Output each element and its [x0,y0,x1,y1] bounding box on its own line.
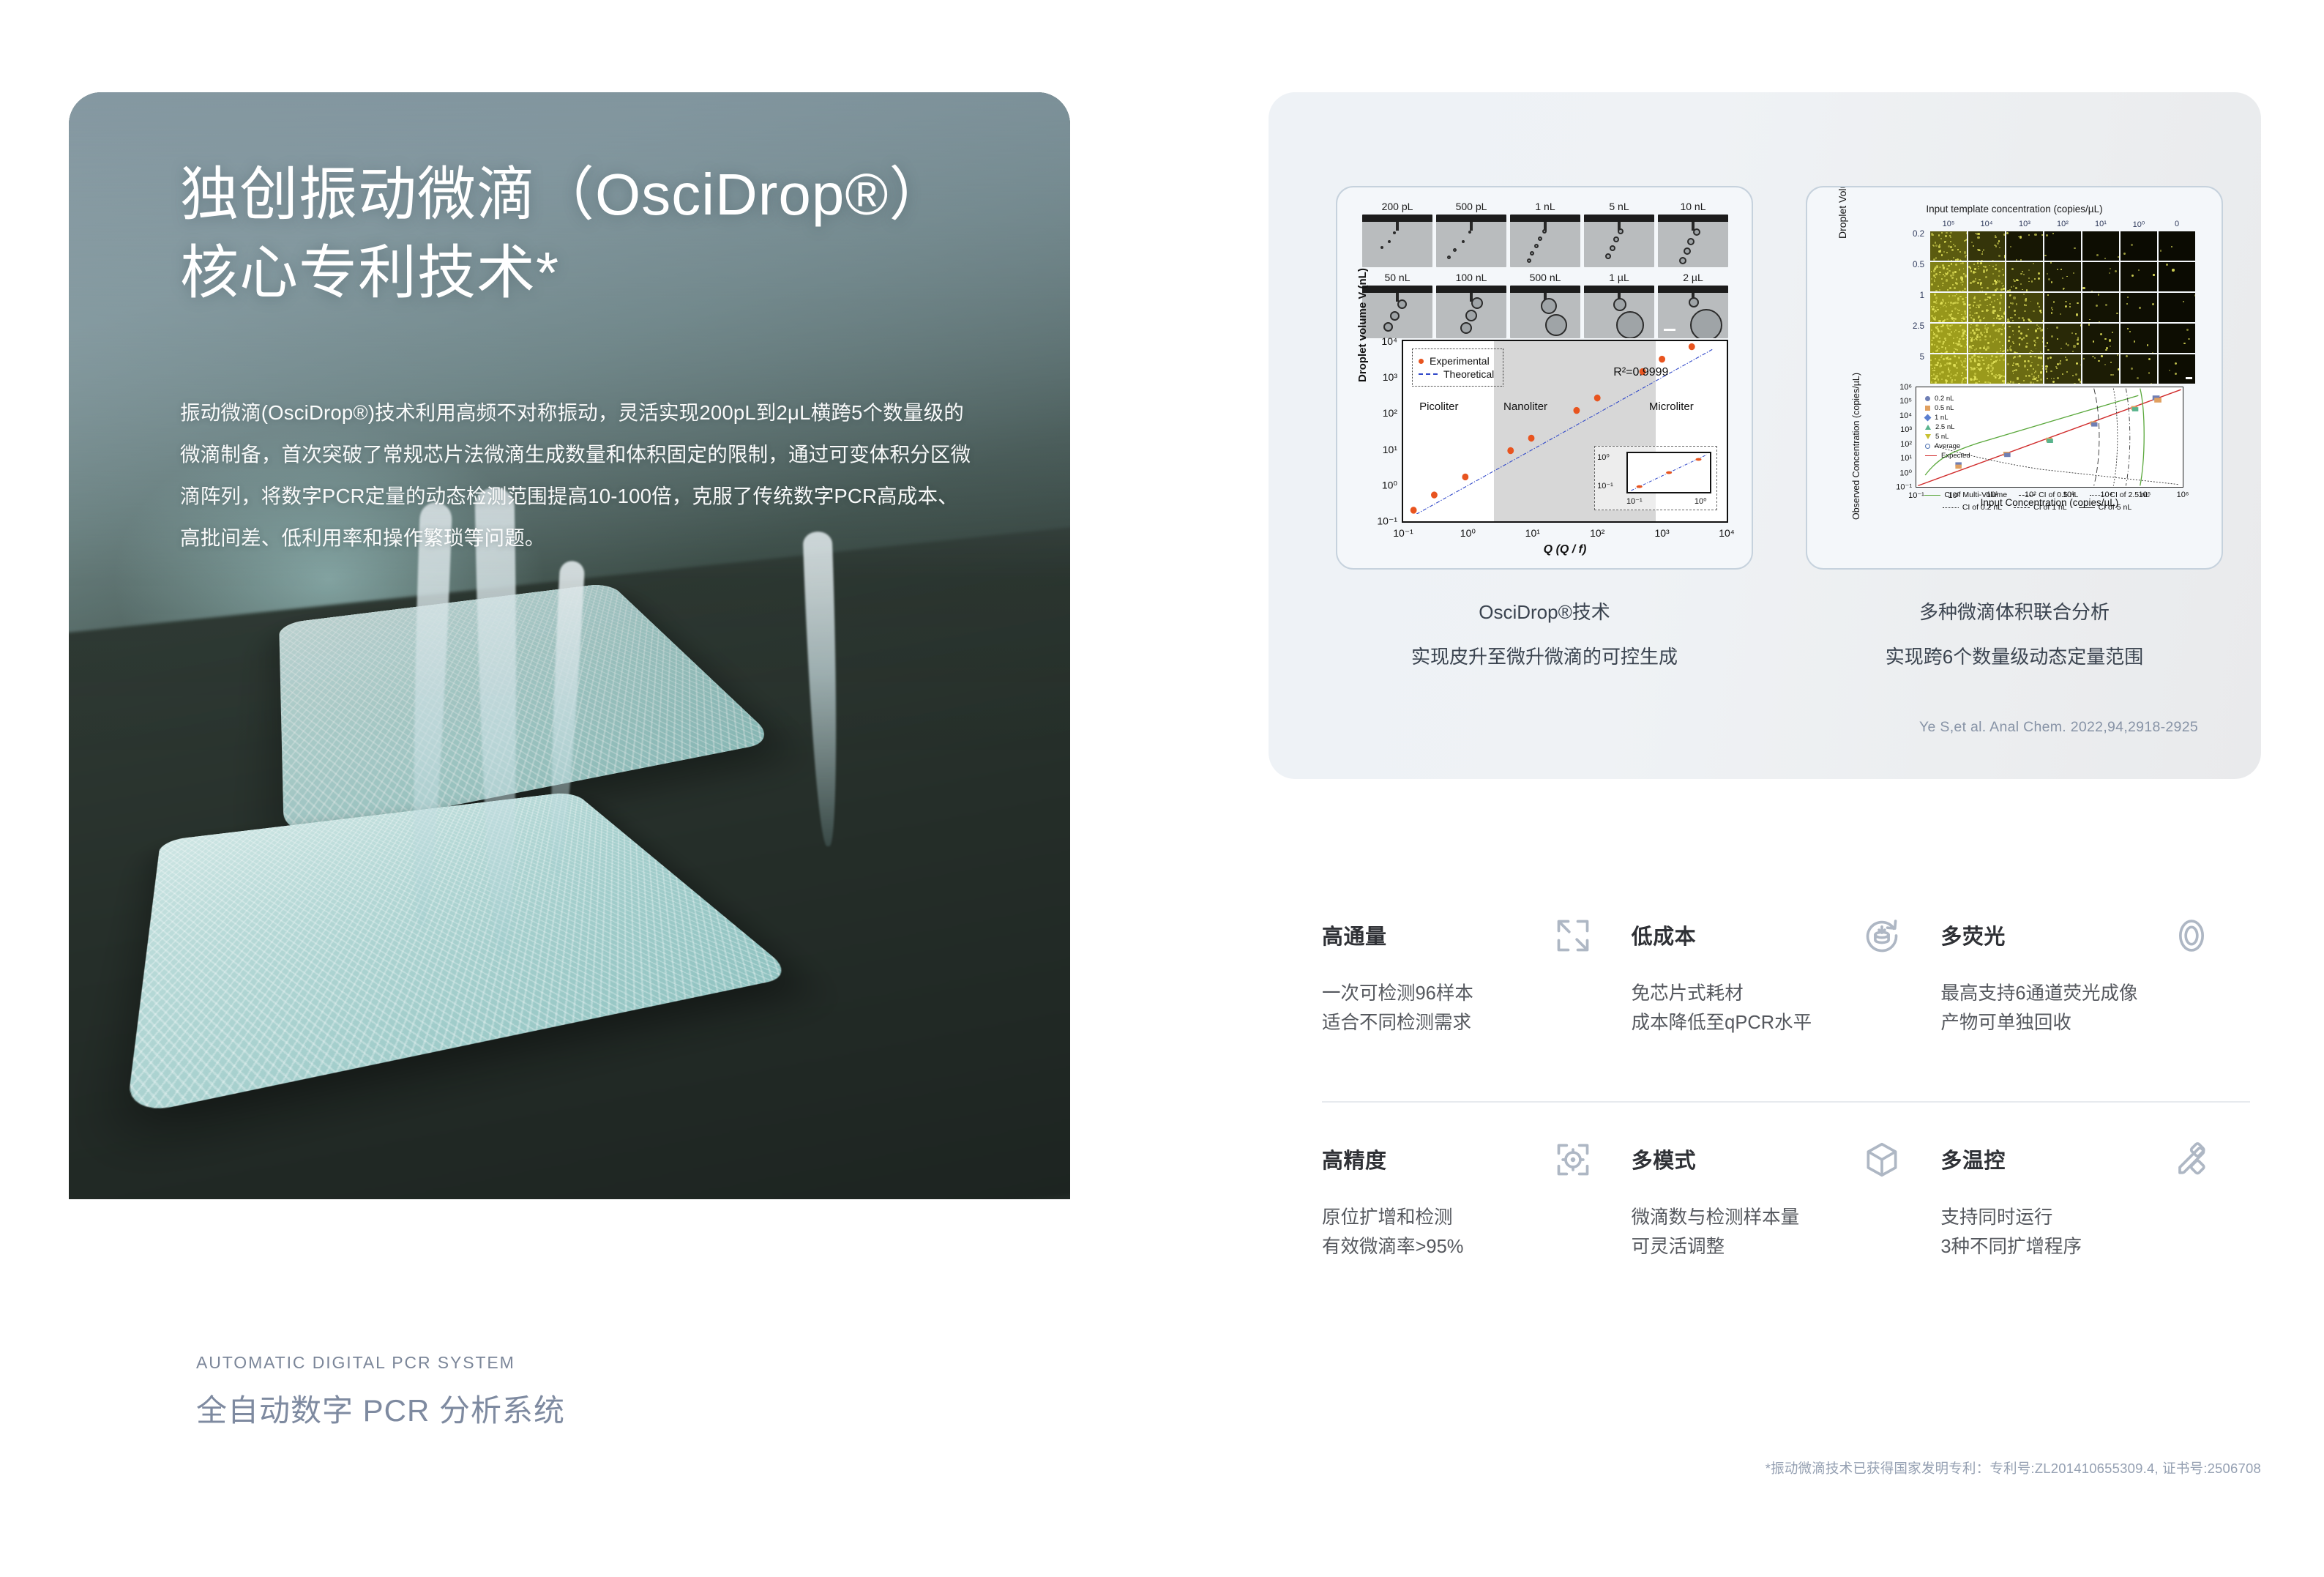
feature-title: 多温控 [1940,1144,2006,1174]
figure-caption-title: 多种微滴体积联合分析 [1806,597,2223,625]
brand-lockup: AUTOMATIC DIGITAL PCR SYSTEM 全自动数字 PCR 分… [196,1353,565,1431]
droplet-cell: 10 nL [1658,201,1728,267]
legend-item: Theoretical [1419,368,1494,380]
ci-line-swatch [2019,495,2035,496]
legend-marker [1925,444,1930,449]
cal-y-tick: 10⁵ [1899,397,1912,406]
heatmap-cell [1930,262,1967,291]
droplet-micrograph [1510,215,1580,267]
feature-title: 多模式 [1632,1144,1697,1174]
heatmap-cell [2121,262,2157,291]
heatmap-cell [2044,354,2081,384]
legend-label: 1 nL [1935,414,1949,422]
zone-label-microliter: Microliter [1649,400,1694,413]
zone-label-nanoliter: Nanoliter [1503,400,1547,413]
inset-fit-line [1628,453,1710,492]
ci-label: CI of 5 nL [2099,503,2132,512]
product-name-cn: 全自动数字 PCR 分析系统 [196,1386,565,1431]
ci-label: CI of 1 nL [2033,503,2067,512]
calibration-chart: Observed Concentration (copies/µL) 10⁻¹ … [1847,384,2210,521]
ci-line-swatch [1924,495,1940,496]
focus-target-icon [1554,1141,1592,1179]
heatmap-cell [2082,324,2119,353]
legend-label: 0.2 nL [1935,395,1954,403]
droplet-cell: 200 pL [1362,201,1432,267]
droplet-micrograph-strip: 200 pL 500 pL [1362,201,1730,338]
legend-item: 2.5 nL [1925,423,1970,431]
heatmap-cell [1930,293,1967,322]
heatmap-cell [2121,293,2157,322]
feature-description: 免芯片式耗材 成本降低至qPCR水平 [1632,980,1902,1037]
chart-inset: 10⁻¹ 10⁰ 10⁻¹ 10⁰ [1594,446,1717,511]
heatmap-title: Input template concentration (copies/µL) [1807,204,2222,215]
ci-legend-item: CI of 0.2 nL [1943,503,2002,512]
y-axis-label: Droplet volume V (nL) [1356,268,1369,382]
heatmap-cell [2159,293,2195,322]
ci-legend-item: CI of Multi-Volume [1924,491,2007,499]
cal-y-tick: 10⁰ [1899,468,1912,477]
y-tick: 10⁰ [1382,479,1397,491]
calibration-y-axis-label: Observed Concentration (copies/µL) [1851,373,1861,520]
droplet-row-bottom: 50 nL 100 nL 500 nL [1362,272,1730,338]
heatmap-cell [2159,231,2195,261]
droplet-volume-label: 1 nL [1510,201,1580,212]
heatmap-x-tick: 10¹ [2082,220,2119,229]
hero-title: 独创振动微滴（OsciDrop®） 核心专利技术* [180,155,978,312]
legend-label: 2.5 nL [1935,423,1954,431]
heatmap-x-tick: 10⁰ [2121,220,2157,229]
legend-marker [1925,396,1930,401]
heatmap-x-tick: 10³ [2006,220,2043,229]
inset-y-tick: 10⁰ [1597,452,1610,462]
droplet-volume-label: 200 pL [1362,201,1432,212]
legend-marker [1925,406,1930,411]
droplet-cell: 100 nL [1436,272,1506,338]
feature-description: 微滴数与检测样本量 可灵活调整 [1632,1204,1902,1261]
legend-marker-dot [1419,359,1424,364]
heatmap-cell [2082,293,2119,322]
heatmap-y-ticks: 0.2 0.5 1 2.5 5 [1877,220,1924,373]
droplet-volume-label: 1 µL [1584,272,1654,283]
heatmap-cell [1930,231,1967,261]
legend-marker-dash [1419,373,1438,375]
legend-item: Average [1925,442,1970,450]
feature-title: 多荧光 [1940,920,2006,950]
legend-marker [1925,455,1937,456]
feature-header: 多温控 [1940,1144,2211,1179]
droplet-volume-label: 2 µL [1658,272,1728,283]
feature-item-high-throughput: 高通量 一次可检测96样本 适合不同检测需求 [1322,920,1632,1103]
droplet-micrograph [1436,215,1506,267]
heatmap-cell [1968,231,2005,261]
y-tick: 10³ [1383,371,1397,383]
droplet-volume-label: 500 nL [1510,272,1580,283]
figure-caption-sub: 实现跨6个数量级动态定量范围 [1806,642,2223,669]
y-tick: 10¹ [1383,444,1397,455]
droplet-volume-label: 50 nL [1362,272,1432,283]
chart-legend: Experimental Theoretical [1412,348,1503,387]
feature-header: 高精度 [1322,1144,1592,1179]
droplet-volume-label: 10 nL [1658,201,1728,212]
heatmap-cell [2044,293,2081,322]
r-squared-annotation: R²=0.9999 [1613,366,1668,379]
cal-y-tick: 10² [1900,440,1912,449]
crossed-diamond-icon [2172,1141,2211,1179]
legend-marker [1924,414,1932,422]
legend-label: 0.5 nL [1935,404,1954,412]
figure-citation: Ye S,et al. Anal Chem. 2022,94,2918-2925 [1919,719,2198,736]
product-name-card: AUTOMATIC DIGITAL PCR SYSTEM 全自动数字 PCR 分… [141,1207,1187,1521]
feature-description: 原位扩增和检测 有效微滴率>95% [1322,1204,1592,1261]
heatmap-x-tick: 10⁵ [1930,220,1967,229]
droplet-volume-chart: Droplet volume V (nL) 10⁻¹ 10⁰ 10¹ 10² 1… [1359,331,1734,558]
legend-marker [1925,425,1931,430]
droplet-row-top: 200 pL 500 pL [1362,201,1730,267]
heatmap-y-tick: 1 [1877,281,1924,312]
feature-header: 多荧光 [1940,920,2211,955]
cal-y-tick: 10⁴ [1899,411,1912,420]
heatmap-cell [2121,324,2157,353]
cal-y-tick: 10³ [1900,425,1912,434]
heatmap-x-tick: 10² [2044,220,2081,229]
heatmap-cell [1930,354,1967,384]
confidence-interval-legend: CI of Multi-Volume CI of 0.5 nL CI of 2.… [1872,491,2202,515]
ci-legend-item: CI of 2.5 nL [2090,491,2149,499]
inset-y-tick: 10⁻¹ [1597,481,1613,491]
droplet-cell: 1 µL [1584,272,1654,338]
feature-title: 低成本 [1632,920,1697,950]
heatmap-cell [1968,293,2005,322]
feature-title: 高精度 [1322,1144,1387,1174]
ci-line-swatch [2014,507,2030,508]
droplet-cell: 2 µL [1658,272,1728,338]
hero-copy-block: 独创振动微滴（OsciDrop®） 核心专利技术* 振动微滴(OsciDrop®… [180,155,978,559]
droplet-micrograph [1584,215,1654,267]
x-tick: 10⁰ [1460,527,1476,540]
legend-label: Expected [1941,452,1970,460]
droplet-cell: 5 nL [1584,201,1654,267]
droplet-cell: 50 nL [1362,272,1432,338]
heatmap-cell [2044,231,2081,261]
figure-caption-2: 多种微滴体积联合分析 实现跨6个数量级动态定量范围 [1806,597,2223,669]
ci-label: CI of Multi-Volume [1944,491,2007,499]
calibration-plot-area: 10⁻¹ 10⁰ 10¹ 10² 10³ 10⁴ 10⁵ 10⁶ 10⁻¹ 10… [1916,387,2183,488]
legend-item: 1 nL [1925,414,1970,422]
figure-caption-title: OsciDrop®技术 [1336,597,1753,625]
ci-label: CI of 2.5 nL [2110,491,2149,499]
droplet-cell: 500 pL [1436,201,1506,267]
legend-label: Experimental [1430,355,1490,367]
legend-label: Theoretical [1443,368,1494,380]
droplet-cell: 1 nL [1510,201,1580,267]
heatmap-cell [2121,354,2157,384]
feature-title: 高通量 [1322,920,1387,950]
recycle-icon [1863,917,1901,955]
y-tick: 10⁻¹ [1377,515,1397,528]
zone-label-picoliter: Picoliter [1419,400,1458,413]
feature-header: 高通量 [1322,920,1592,955]
y-tick: 10² [1383,407,1397,419]
figure-card-osci-drop: 200 pL 500 pL [1336,186,1753,570]
x-axis-label: Q (Q / f) [1402,543,1728,556]
ci-legend-item: CI of 5 nL [2079,503,2132,512]
droplet-cell: 500 nL [1510,272,1580,338]
ci-legend-row: CI of 0.2 nL CI of 1 nL CI of 5 nL [1872,503,2202,512]
droplet-volume-label: 100 nL [1436,272,1506,283]
heatmap-x-tick: 10⁴ [1968,220,2005,229]
ci-line-swatch [2090,495,2106,496]
scale-bar [2186,377,2192,379]
ci-legend-row: CI of Multi-Volume CI of 0.5 nL CI of 2.… [1872,491,2202,499]
feature-item-low-cost: 低成本 免芯片式耗材 成本降低至qPCR水平 [1632,920,1941,1103]
x-tick: 10⁻¹ [1393,527,1413,540]
ci-legend-item: CI of 1 nL [2014,503,2067,512]
heatmap-x-tick: 0 [2159,220,2195,229]
droplet-volume-label: 500 pL [1436,201,1506,212]
figure-caption-1: OsciDrop®技术 实现皮升至微升微滴的可控生成 [1336,597,1753,669]
ci-label: CI of 0.5 nL [2039,491,2078,499]
ci-label: CI of 0.2 nL [1962,503,2002,512]
x-tick: 10³ [1654,527,1669,539]
heatmap-y-tick: 0.2 [1877,220,1924,250]
expand-icon [1554,917,1592,955]
heatmap-cell [2159,262,2195,291]
legend-label: 5 nL [1935,433,1949,441]
droplet-micrograph [1658,215,1728,267]
hero-description: 振动微滴(OsciDrop®)技术利用高频不对称振动，灵活实现200pL到2μL… [180,392,978,559]
heatmap-y-tick: 2.5 [1877,312,1924,343]
calibration-legend: 0.2 nL 0.5 nL 1 nL 2.5 nL 5 nL Average E… [1925,395,1970,461]
fluorescence-heatmap: 10⁵ 10⁴ 10³ 10² 10¹ 10⁰ 0 [1930,220,2195,384]
legend-label: Average [1935,442,1960,450]
feature-header: 多模式 [1632,1144,1902,1179]
heatmap-cell [2044,324,2081,353]
figure-panel: 200 pL 500 pL [1269,92,2261,779]
heatmap-cell [2159,354,2195,384]
feature-item-multi-temperature: 多温控 支持同时运行 3种不同扩增程序 [1940,1103,2250,1286]
x-tick: 10¹ [1525,527,1540,539]
figure-caption-sub: 实现皮升至微升微滴的可控生成 [1336,642,1753,669]
heatmap-y-tick: 5 [1877,343,1924,373]
inset-x-tick: 10⁰ [1695,496,1707,506]
inset-x-tick: 10⁻¹ [1626,496,1643,506]
feature-description: 一次可检测96样本 适合不同检测需求 [1322,980,1592,1037]
concentric-icon [2172,917,2211,955]
heatmap-cell [2082,231,2119,261]
droplet-volume-label: 5 nL [1584,201,1654,212]
figure-card-multivolume: Input template concentration (copies/µL)… [1806,186,2223,570]
heatmap-cell [2159,324,2195,353]
legend-marker [1925,434,1931,439]
y-tick: 10⁴ [1381,335,1397,347]
feature-item-multi-mode: 多模式 微滴数与检测样本量 可灵活调整 [1632,1103,1941,1286]
heatmap-cell [2082,354,2119,384]
heatmap-cell [1968,262,2005,291]
feature-header: 低成本 [1632,920,1902,955]
feature-grid: 高通量 一次可检测96样本 适合不同检测需求 低成本 [1322,920,2250,1286]
ci-line-swatch [2079,507,2095,508]
legend-item: 0.5 nL [1925,404,1970,412]
ci-legend-item: CI of 0.5 nL [2019,491,2078,499]
cal-y-tick: 10¹ [1900,454,1912,463]
feature-description: 支持同时运行 3种不同扩增程序 [1940,1204,2211,1261]
heatmap-cell [2006,262,2043,291]
plot-area: 10⁻¹ 10⁰ 10¹ 10² 10³ 10⁴ 10⁻¹ 10⁰ 10¹ 10… [1402,340,1728,523]
heatmap-cell [2006,293,2043,322]
legend-item: 5 nL [1925,433,1970,441]
product-name-en: AUTOMATIC DIGITAL PCR SYSTEM [196,1353,565,1373]
heatmap-y-axis-label: Droplet Volume (nL) [1837,186,1848,239]
feature-item-high-precision: 高精度 原位扩增和检测 有效微滴率>95% [1322,1103,1632,1286]
heatmap-cell [2006,231,2043,261]
feature-description: 最高支持6通道荧光成像 产物可单独回收 [1940,980,2211,1037]
legend-item: Expected [1925,452,1970,460]
feature-item-multi-fluorescence: 多荧光 最高支持6通道荧光成像 产物可单独回收 [1940,920,2250,1103]
legend-item: Experimental [1419,355,1494,367]
heatmap-y-tick: 0.5 [1877,250,1924,281]
heatmap-cell [1968,324,2005,353]
x-tick: 10⁴ [1719,527,1735,539]
x-tick: 10² [1590,527,1604,539]
cube-icon [1863,1141,1901,1179]
legend-item: 0.2 nL [1925,395,1970,403]
heatmap-cell [2082,262,2119,291]
patent-footnote: *振动微滴技术已获得国家发明专利：专利号:ZL201410655309.4, 证… [1766,1458,2261,1477]
heatmap-cell [1968,354,2005,384]
heatmap-cell [1930,324,1967,353]
heatmap-grid [1930,231,2195,384]
hero-image-panel: 独创振动微滴（OsciDrop®） 核心专利技术* 振动微滴(OsciDrop®… [69,92,1070,1199]
heatmap-cell [2121,231,2157,261]
heatmap-cell [2044,262,2081,291]
heatmap-cell [2006,324,2043,353]
cal-y-tick: 10⁶ [1899,383,1912,392]
droplet-micrograph [1362,215,1432,267]
ci-line-swatch [1943,507,1959,508]
heatmap-x-ticks: 10⁵ 10⁴ 10³ 10² 10¹ 10⁰ 0 [1930,220,2195,229]
heatmap-cell [2006,354,2043,384]
inset-plot-area [1626,452,1711,493]
